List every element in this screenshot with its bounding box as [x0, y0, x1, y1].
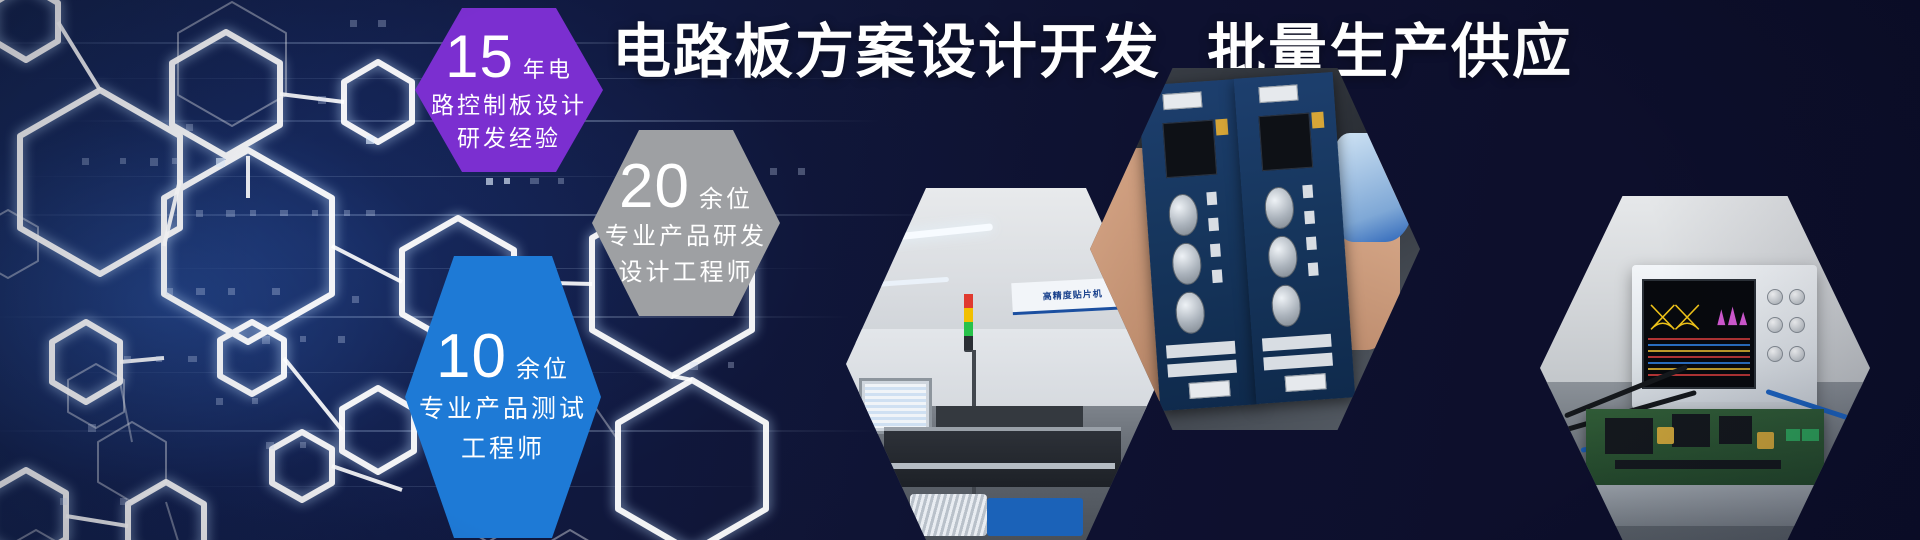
headline-left: 电路板方案设计开发 [612, 19, 1161, 85]
promo-banner: 电路板方案设计开发批量生产供应 15 年电 路控制板设计 研发经验 20 余位 … [0, 0, 1920, 540]
stat-line-3: 研发经验 [457, 122, 561, 155]
banner-headline: 电路板方案设计开发批量生产供应 [612, 16, 1573, 88]
stat-line-2: 专业产品研发 [605, 219, 767, 255]
stat-unit: 余位 [699, 187, 753, 213]
stat-number: 15 [445, 25, 514, 89]
device-under-test [1586, 409, 1824, 492]
photo-hexagon-test-bench [1540, 196, 1870, 540]
stat-line-2: 路控制板设计 [431, 89, 587, 122]
stat-line-2: 专业产品测试 [419, 389, 587, 429]
oscilloscope [1632, 265, 1817, 409]
stat-unit: 年电 [523, 57, 573, 83]
stat-line-3: 设计工程师 [619, 255, 754, 291]
machine-sign-text: 高精度贴片机 [1043, 286, 1104, 302]
stat-number: 20 [619, 155, 690, 219]
stat-number: 10 [436, 325, 507, 389]
stat-unit: 余位 [516, 357, 570, 383]
stat-line-3: 工程师 [461, 429, 545, 469]
